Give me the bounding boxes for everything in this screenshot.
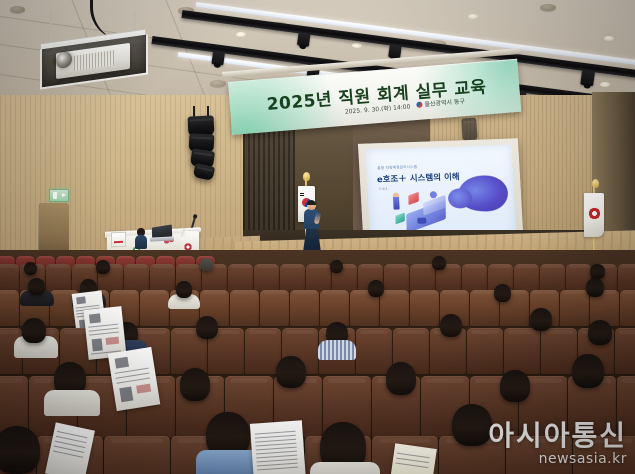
seat[interactable] [0,290,19,326]
slide-iso-card-red [408,192,418,205]
handout-booklet[interactable] [389,443,437,474]
attendee-shoulders [44,390,100,416]
attendee-head [586,278,604,297]
audience-seating-area [0,250,635,474]
seat[interactable] [140,290,169,326]
photo-scene: 2025년 직원 회계 실무 교육 2025. 9. 30.(화) 14:00 … [0,0,635,474]
exit-runner-glyph [53,192,57,199]
stage-operator [134,228,148,250]
attendee-head [200,258,213,271]
attendee-head [0,426,40,474]
slide-iso-card-teal [395,212,405,224]
ceiling-vent [210,80,226,87]
attendee-head [432,256,446,270]
track-spotlight [297,32,311,46]
seat[interactable] [320,290,349,326]
attendee-head [386,362,416,395]
seat[interactable] [356,328,392,374]
flag-cloth [584,193,604,237]
attendee-head [96,260,110,274]
seat[interactable] [617,376,635,438]
seat[interactable] [504,328,540,374]
ceiling-downlight [236,32,246,37]
slide-cloud-illustration [457,175,509,213]
track-spotlight [211,51,225,65]
seat[interactable] [506,436,572,474]
attendee-head [276,356,306,388]
ceiling-downlight [600,82,610,87]
seat[interactable] [620,290,635,326]
ceiling-downlight [604,36,614,41]
seat[interactable] [380,290,409,326]
slide-eyebrow: 통합 지방재정관리시스템 [377,165,417,171]
handout-booklet[interactable] [250,420,306,474]
attendee-head [494,284,511,302]
attendee-head [28,278,45,295]
exit-sign-icon [49,189,69,202]
attendee-head [590,264,605,279]
slide-iso-tablet [417,218,426,224]
attendee-head [500,370,530,402]
handout-booklet[interactable] [108,347,161,411]
slide-note: 차세대... [378,186,390,191]
ceiling-vent [10,6,25,13]
stage-curtain [243,120,295,248]
seat[interactable] [467,328,503,374]
seat[interactable] [104,436,170,474]
slide-iso-person [393,192,400,209]
attendee-head [176,281,192,298]
attendee-head [196,316,218,339]
ceiling-downlight [352,43,362,48]
attendee-head [22,318,46,343]
attendee-head [24,262,37,275]
city-flag [584,185,606,257]
line-array-speaker-left [186,106,216,180]
attendee-head [330,260,343,273]
seat[interactable] [230,290,259,326]
attendee-head [440,314,462,337]
attendee-head [530,308,552,331]
exit-arrow-glyph [62,193,66,197]
slide-title: e호조＋ 시스템의 이해 [377,170,460,185]
track-spotlight [580,70,595,87]
attendee-head [180,368,210,401]
ceiling-downlight [468,14,478,19]
organization-logo-icon [416,101,422,107]
seat[interactable] [260,290,289,326]
table-name-card [111,232,126,248]
seat[interactable] [573,436,635,474]
ceiling-vent [540,4,556,11]
attendee-head [452,404,492,446]
ceiling-projector [34,12,152,82]
attendee-head [588,320,612,345]
seat[interactable] [290,290,319,326]
attendee-shoulders [310,462,380,474]
attendee-shoulders [318,340,356,360]
seat[interactable] [410,290,439,326]
seat[interactable] [560,290,589,326]
attendee-head [572,354,604,388]
attendee-head [368,280,384,297]
seat[interactable] [615,328,635,374]
city-emblem-icon [587,206,603,222]
